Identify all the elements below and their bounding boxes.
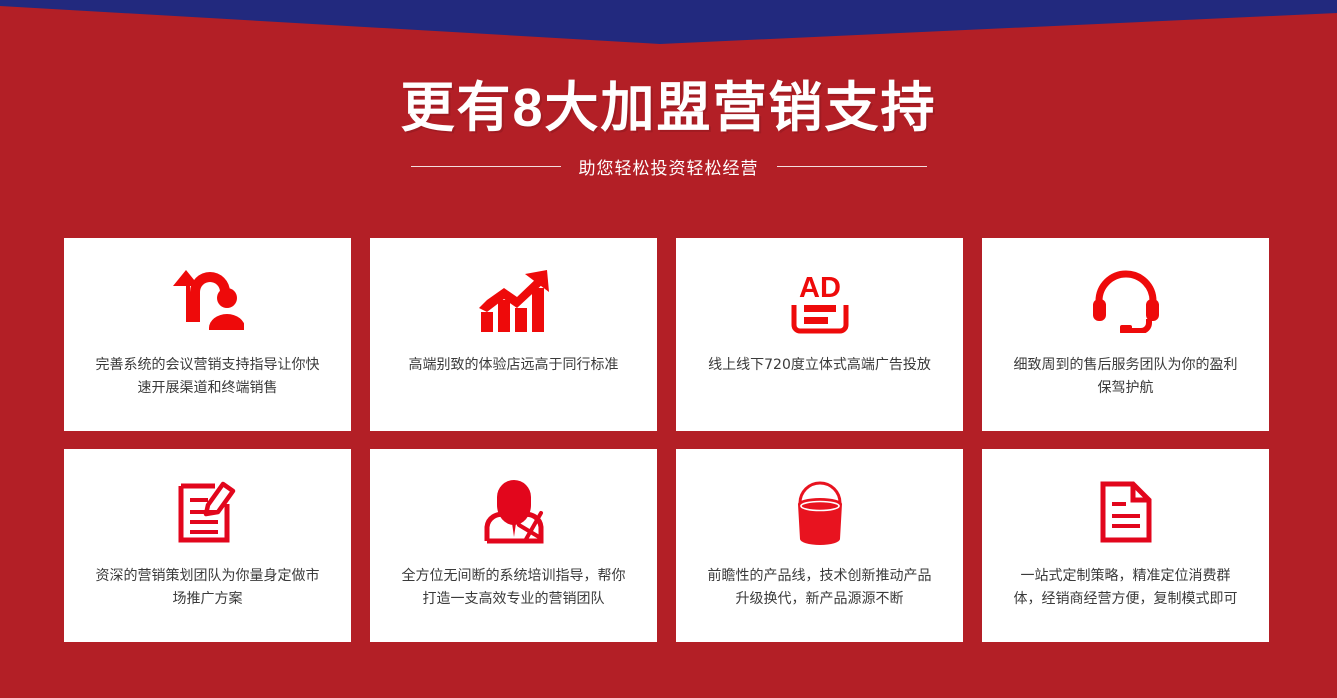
paint-bucket-icon bbox=[676, 475, 963, 549]
support-card-text: 全方位无间断的系统培训指导，帮你打造一支高效专业的营销团队 bbox=[398, 565, 630, 610]
chevron-shape-icon bbox=[0, 0, 1337, 56]
subtitle-rule-right bbox=[777, 166, 927, 167]
support-cards-grid: 完善系统的会议营销支持指导让你快速开展渠道和终端销售 高端别致的体验店远高于同行… bbox=[64, 238, 1274, 642]
support-card-text: 完善系统的会议营销支持指导让你快速开展渠道和终端销售 bbox=[92, 354, 324, 399]
page-subtitle: 助您轻松投资轻松经营 bbox=[579, 154, 759, 179]
support-card-text: 一站式定制策略，精准定位消费群体，经销商经营方便，复制模式即可 bbox=[1010, 565, 1242, 610]
uturn-arrow-person-icon bbox=[64, 264, 351, 338]
support-card[interactable]: 前瞻性的产品线，技术创新推动产品升级换代，新产品源源不断 bbox=[676, 449, 963, 642]
support-card[interactable]: 完善系统的会议营销支持指导让你快速开展渠道和终端销售 bbox=[64, 238, 351, 431]
headset-icon bbox=[982, 264, 1269, 338]
page-header: 更有8大加盟营销支持 助您轻松投资轻松经营 bbox=[0, 78, 1337, 179]
support-card-text: 高端别致的体验店远高于同行标准 bbox=[398, 354, 630, 377]
support-card-text: 线上线下720度立体式高端广告投放 bbox=[704, 354, 936, 377]
subtitle-row: 助您轻松投资轻松经营 bbox=[0, 154, 1337, 179]
ad-billboard-icon: AD bbox=[676, 264, 963, 338]
top-chevron-banner bbox=[0, 0, 1337, 56]
instructor-presenter-icon bbox=[370, 475, 657, 549]
subtitle-rule-left bbox=[411, 166, 561, 167]
document-lines-icon bbox=[982, 475, 1269, 549]
support-card[interactable]: 资深的营销策划团队为你量身定做市场推广方案 bbox=[64, 449, 351, 642]
support-card[interactable]: 全方位无间断的系统培训指导，帮你打造一支高效专业的营销团队 bbox=[370, 449, 657, 642]
support-card-text: 资深的营销策划团队为你量身定做市场推广方案 bbox=[92, 565, 324, 610]
page-title: 更有8大加盟营销支持 bbox=[0, 78, 1337, 140]
svg-text:AD: AD bbox=[799, 272, 841, 304]
support-card[interactable]: 细致周到的售后服务团队为你的盈利保驾护航 bbox=[982, 238, 1269, 431]
support-card[interactable]: 高端别致的体验店远高于同行标准 bbox=[370, 238, 657, 431]
bar-chart-growth-arrow-icon bbox=[370, 264, 657, 338]
support-card-text: 细致周到的售后服务团队为你的盈利保驾护航 bbox=[1010, 354, 1242, 399]
support-card[interactable]: AD 线上线下720度立体式高端广告投放 bbox=[676, 238, 963, 431]
support-card[interactable]: 一站式定制策略，精准定位消费群体，经销商经营方便，复制模式即可 bbox=[982, 449, 1269, 642]
document-pencil-icon bbox=[64, 475, 351, 549]
support-card-text: 前瞻性的产品线，技术创新推动产品升级换代，新产品源源不断 bbox=[704, 565, 936, 610]
